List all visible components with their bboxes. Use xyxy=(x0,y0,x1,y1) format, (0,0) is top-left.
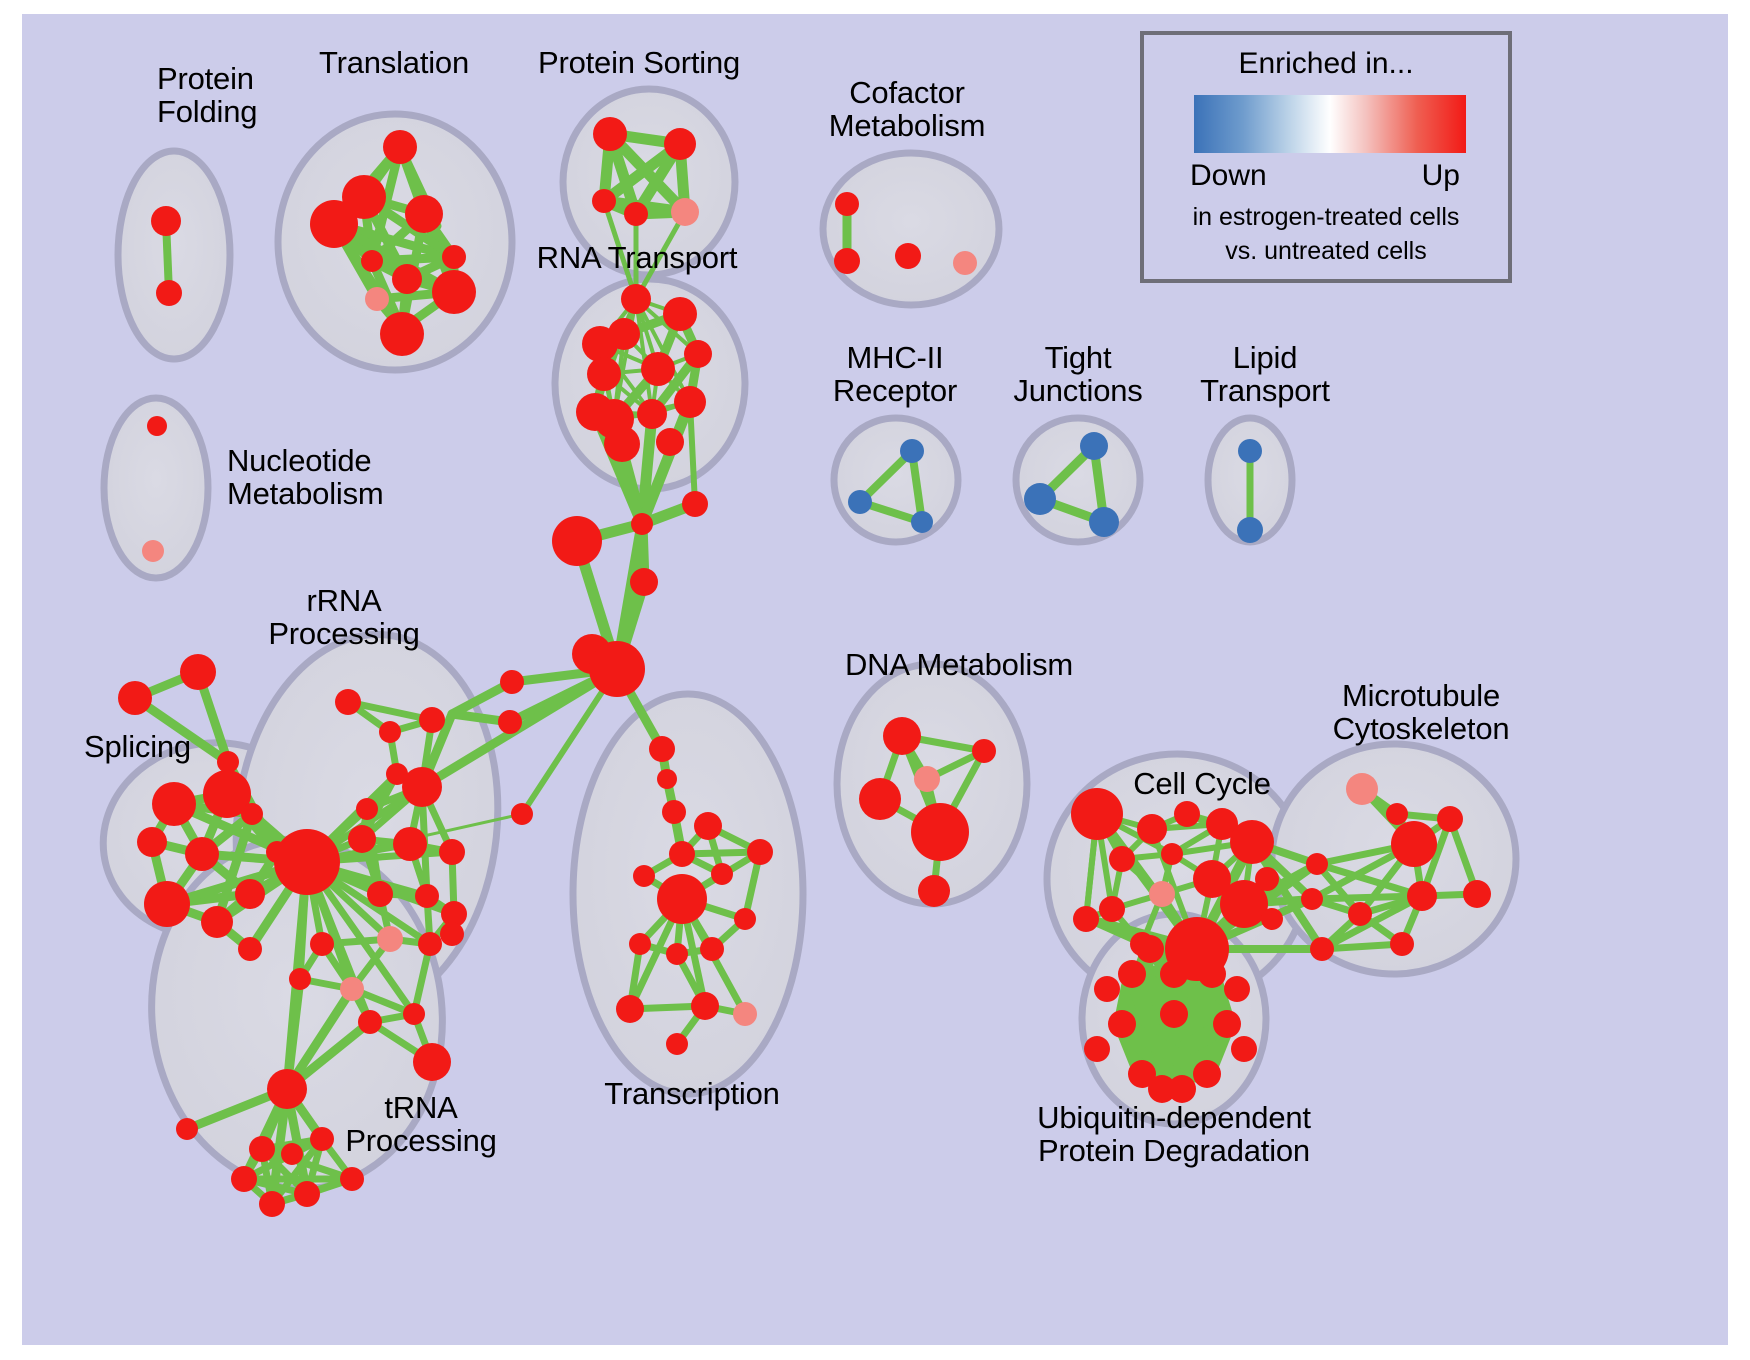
cluster-label-cell-cycle: Cell Cycle xyxy=(1133,767,1271,800)
legend-title: Enriched in... xyxy=(1144,47,1508,81)
legend-subtitle-line1: in estrogen-treated cells xyxy=(1144,203,1508,232)
cluster-label-transcription: Transcription xyxy=(604,1077,779,1110)
cluster-label-dna-metabolism: DNA Metabolism xyxy=(845,648,1073,681)
cluster-label-lipid-transport: Lipid Transport xyxy=(1200,341,1330,408)
hull-mhc xyxy=(834,418,958,542)
cluster-label-tight-junctions: Tight Junctions xyxy=(1013,341,1142,408)
legend-color-bar xyxy=(1194,95,1466,153)
cluster-label-trna-processing: tRNA Processing xyxy=(345,1091,496,1158)
cluster-label-protein-sorting: Protein Sorting xyxy=(538,46,740,79)
figure-canvas: Protein Folding Translation Protein Sort… xyxy=(0,0,1750,1360)
cluster-label-translation: Translation xyxy=(319,46,469,79)
legend-subtitle-line2: vs. untreated cells xyxy=(1144,237,1508,266)
cluster-label-protein-folding: Protein Folding xyxy=(157,62,257,129)
network-plot: Protein Folding Translation Protein Sort… xyxy=(22,14,1728,1345)
cluster-label-ubiquitin-degradation: Ubiquitin-dependent Protein Degradation xyxy=(1037,1101,1311,1168)
legend-box: Enriched in... Down Up in estrogen-treat… xyxy=(1140,31,1512,283)
legend-down-label: Down xyxy=(1190,159,1267,193)
cluster-label-splicing: Splicing xyxy=(84,730,191,763)
cluster-label-rna-transport: RNA Transport xyxy=(537,241,738,274)
cluster-label-nucleotide-metabolism: Nucleotide Metabolism xyxy=(227,444,384,511)
hull-protein-folding xyxy=(118,151,230,359)
cluster-label-mhc-ii-receptor: MHC-II Receptor xyxy=(833,341,957,408)
hull-tight-junctions xyxy=(1016,418,1140,542)
cluster-label-microtubule-cytoskeleton: Microtubule Cytoskeleton xyxy=(1333,679,1510,746)
legend-up-label: Up xyxy=(1422,159,1460,193)
cluster-label-rrna-processing: rRNA Processing xyxy=(268,584,419,651)
cluster-label-cofactor-metabolism: Cofactor Metabolism xyxy=(829,76,986,143)
